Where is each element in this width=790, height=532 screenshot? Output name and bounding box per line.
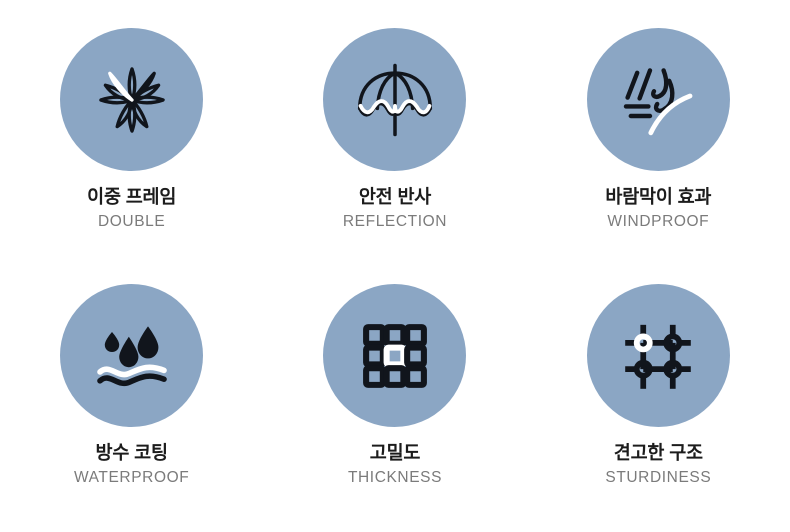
label-en: THICKNESS: [348, 470, 442, 486]
feature-label-double: 이중 프레임 DOUBLE: [87, 188, 176, 229]
label-ko: 안전 반사: [343, 188, 447, 207]
label-en: DOUBLE: [87, 214, 176, 230]
label-ko: 방수 코팅: [74, 444, 189, 463]
feature-label-sturdiness: 견고한 구조 STURDINESS: [605, 444, 711, 485]
feature-label-waterproof: 방수 코팅 WATERPROOF: [74, 444, 189, 485]
feature-item-waterproof: 방수 코팅 WATERPROOF: [0, 270, 263, 526]
grid-density-icon: [357, 318, 433, 394]
label-en: WINDPROOF: [605, 214, 711, 230]
label-ko: 견고한 구조: [605, 444, 711, 463]
feature-label-reflection: 안전 반사 REFLECTION: [343, 188, 447, 229]
icon-circle-waterproof: [60, 284, 203, 427]
feature-label-thickness: 고밀도 THICKNESS: [348, 444, 442, 485]
feature-label-windproof: 바람막이 효과 WINDPROOF: [605, 188, 711, 229]
label-en: WATERPROOF: [74, 470, 189, 486]
icon-circle-double: [60, 28, 203, 171]
label-en: REFLECTION: [343, 214, 447, 230]
feature-item-double: 이중 프레임 DOUBLE: [0, 14, 263, 270]
label-ko: 고밀도: [348, 444, 442, 463]
feature-grid: 이중 프레임 DOUBLE: [0, 0, 790, 532]
icon-circle-thickness: [323, 284, 466, 427]
icon-circle-windproof: [587, 28, 730, 171]
icon-circle-sturdiness: [587, 284, 730, 427]
feature-item-thickness: 고밀도 THICKNESS: [263, 270, 526, 526]
feature-item-reflection: 안전 반사 REFLECTION: [263, 14, 526, 270]
label-ko: 바람막이 효과: [605, 188, 711, 207]
wind-icon: [618, 60, 698, 140]
water-droplets-wave-icon: [92, 316, 172, 396]
feature-item-sturdiness: 견고한 구조 STURDINESS: [527, 270, 790, 526]
umbrella-icon: [353, 58, 437, 142]
label-ko: 이중 프레임: [87, 188, 176, 207]
molecular-lattice-icon: [617, 315, 699, 397]
double-frame-star-icon: [95, 63, 169, 137]
icon-circle-reflection: [323, 28, 466, 171]
label-en: STURDINESS: [605, 470, 711, 486]
feature-item-windproof: 바람막이 효과 WINDPROOF: [527, 14, 790, 270]
